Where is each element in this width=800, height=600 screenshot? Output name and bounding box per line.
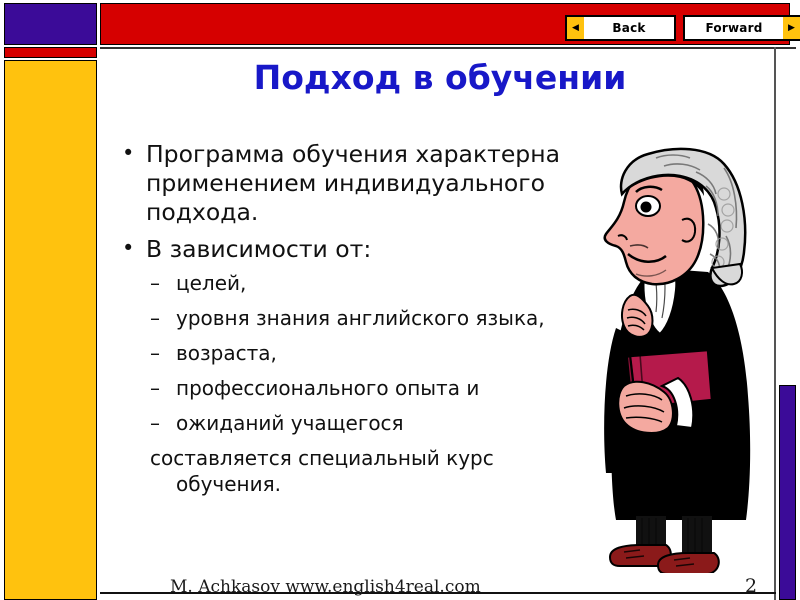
bullet-item: В зависимости от: целей, уровня знания а… (116, 235, 586, 497)
bullet-item: Программа обучения характерна применение… (116, 140, 586, 227)
back-button-label: Back (584, 17, 674, 39)
footer-credit: M. Achkasov www.english4real.com (170, 577, 481, 597)
page-number: 2 (745, 575, 757, 597)
bullet-text: Программа обучения характерна применение… (146, 140, 560, 226)
forward-button[interactable]: Forward ▶ (683, 15, 800, 41)
closing-paragraph-lead: составляется специальный курс (150, 446, 494, 470)
back-button[interactable]: ◀ Back (565, 15, 676, 41)
ear (682, 219, 695, 242)
slide-title: Подход в обучении (110, 58, 770, 98)
frame-sidebar-yellow (4, 60, 97, 600)
bullet-list-level2: целей, уровня знания английского языка, … (146, 270, 586, 436)
pupil (641, 202, 652, 213)
sub-bullet-item: профессионального опыта и (146, 375, 586, 401)
right-triangle-icon: ▶ (783, 17, 800, 39)
content-divider-top (100, 47, 796, 49)
sub-bullet-item: целей, (146, 270, 586, 296)
closing-paragraph-wrap: обучения. (150, 471, 586, 497)
sub-bullet-item: уровня знания английского языка, (146, 305, 586, 331)
shoe-right (658, 553, 719, 573)
sub-bullet-item: ожиданий учащегося (146, 410, 586, 436)
judge-illustration (596, 128, 786, 573)
slide-body: Программа обучения характерна применение… (116, 140, 586, 505)
left-triangle-icon: ◀ (567, 17, 584, 39)
frame-corner-purple (4, 3, 97, 45)
slide-canvas: ◀ Back Forward ▶ Подход в обучении Прогр… (0, 0, 800, 600)
bullet-text: В зависимости от: (146, 235, 371, 263)
forward-button-label: Forward (685, 17, 783, 39)
closing-paragraph: составляется специальный курс обучения. (146, 445, 586, 497)
bullet-list-level1: Программа обучения характерна применение… (116, 140, 586, 497)
frame-red-stripe (4, 47, 97, 58)
sub-bullet-item: возраста, (146, 340, 586, 366)
